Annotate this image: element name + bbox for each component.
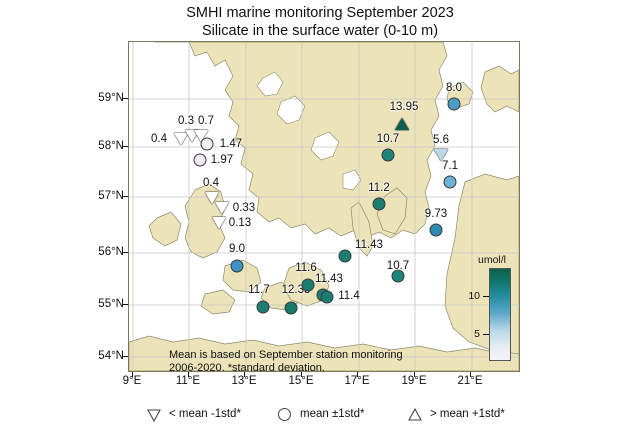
station-marker[interactable] [302, 279, 315, 292]
figure-root: SMHI marine monitoring September 2023 Si… [0, 0, 640, 436]
circle-icon [277, 406, 293, 422]
station-value-label: 11.6 [295, 262, 317, 274]
station-marker[interactable] [444, 176, 457, 189]
y-tick-label-58N: 58°N [72, 140, 124, 152]
colorbar-tick-label-10: 10 [458, 290, 480, 302]
station-marker[interactable] [201, 138, 214, 151]
station-marker[interactable] [285, 302, 298, 315]
colorbar [489, 268, 511, 361]
station-value-label: 10.7 [387, 260, 409, 272]
station-marker[interactable] [231, 260, 244, 273]
legend-item-above-mean: > mean +1std* [407, 406, 505, 422]
y-tick-label-54N: 54°N [72, 350, 124, 362]
map-note-line-2: 2006-2020. *standard deviation. [169, 362, 439, 372]
x-tick-mark [357, 372, 358, 377]
station-marker[interactable] [321, 291, 334, 304]
station-marker[interactable] [339, 250, 352, 263]
station-value-label: 7.1 [442, 160, 458, 172]
station-marker[interactable] [257, 301, 270, 314]
station-value-label: 11.2 [368, 182, 390, 194]
station-value-label: 11.43 [355, 239, 383, 251]
colorbar-tick-label-5: 5 [458, 328, 480, 340]
station-marker[interactable] [395, 118, 409, 130]
y-tick-label-55N: 55°N [72, 298, 124, 310]
x-tick-mark [132, 372, 133, 377]
colorbar-unit-label: umol/l [478, 254, 506, 266]
legend-item-within-mean: mean ±1std* [277, 406, 365, 422]
legend-label-above-mean: > mean +1std* [430, 408, 505, 420]
station-value-label: 11.4 [338, 290, 360, 302]
station-value-label: 0.7 [198, 115, 214, 127]
station-marker[interactable] [194, 154, 207, 167]
station-value-label: 9.73 [425, 208, 447, 220]
station-marker[interactable] [448, 98, 461, 111]
station-value-label: 0.4 [203, 177, 219, 189]
legend-label-below-mean: < mean -1std* [169, 408, 241, 420]
map-note: Mean is based on September station monit… [169, 349, 439, 372]
title-line-2: Silicate in the surface water (0-10 m) [0, 22, 640, 40]
colorbar-tick-10 [483, 296, 489, 297]
triangle-down-icon [146, 406, 162, 422]
station-value-label: 5.6 [433, 134, 449, 146]
station-value-label: 0.3 [178, 115, 194, 127]
station-value-label: 11.43 [315, 273, 343, 285]
station-marker[interactable] [373, 198, 386, 211]
x-tick-mark [188, 372, 189, 377]
triangle-up-icon [407, 406, 423, 422]
colorbar-tick-5 [483, 334, 489, 335]
x-tick-mark [414, 372, 415, 377]
station-value-label: 0.13 [229, 217, 251, 229]
y-tick-label-56N: 56°N [72, 246, 124, 258]
station-value-label: 11.7 [248, 284, 270, 296]
station-value-label: 9.0 [229, 243, 245, 255]
station-value-label: 1.97 [211, 154, 233, 166]
station-value-label: 10.7 [377, 133, 399, 145]
chart-title: SMHI marine monitoring September 2023 Si… [0, 4, 640, 40]
station-value-label: 1.47 [220, 138, 242, 150]
legend-label-within-mean: mean ±1std* [300, 408, 365, 420]
y-tick-label-59N: 59°N [72, 92, 124, 104]
station-marker[interactable] [382, 149, 395, 162]
station-value-label: 0.33 [233, 202, 255, 214]
x-tick-mark [301, 372, 302, 377]
y-tick-label-57N: 57°N [72, 190, 124, 202]
x-tick-mark [470, 372, 471, 377]
station-marker[interactable] [212, 217, 226, 229]
station-value-label: 13.95 [390, 101, 419, 113]
station-value-label: 0.4 [151, 133, 167, 145]
title-line-1: SMHI marine monitoring September 2023 [0, 4, 640, 22]
marker-legend: < mean -1std* mean ±1std* > mean +1std* [0, 398, 640, 436]
station-value-label: 8.0 [446, 82, 462, 94]
x-tick-mark [244, 372, 245, 377]
station-marker[interactable] [215, 202, 229, 214]
legend-item-below-mean: < mean -1std* [146, 406, 241, 422]
station-marker[interactable] [430, 224, 443, 237]
map-note-line-1: Mean is based on September station monit… [169, 349, 439, 362]
